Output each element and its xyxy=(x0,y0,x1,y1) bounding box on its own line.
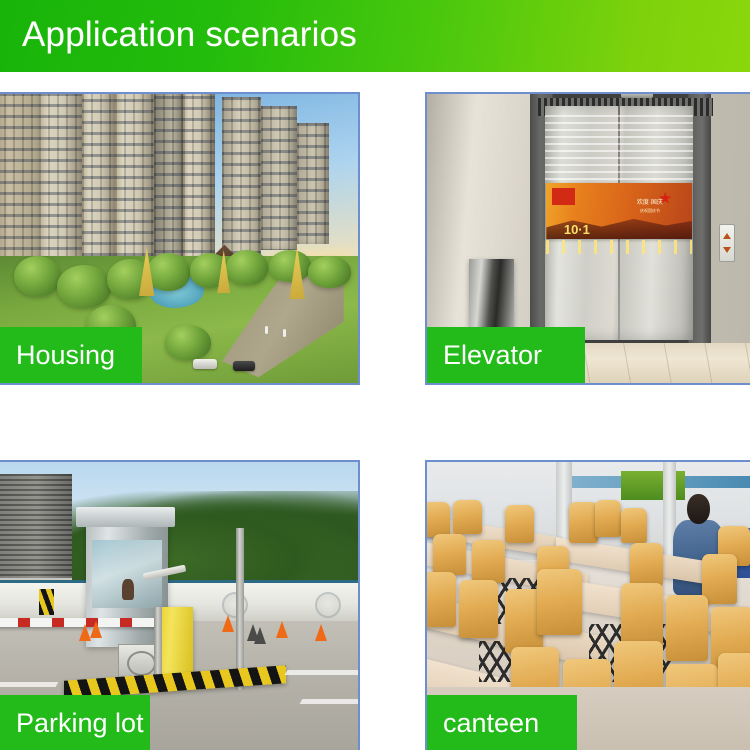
tree xyxy=(165,325,212,360)
scenario-caption-housing: Housing xyxy=(0,327,142,383)
scenario-grid: Housing 欢度·国庆 庆 xyxy=(0,92,750,750)
road-marking xyxy=(0,682,59,687)
person-head xyxy=(687,494,710,524)
dining-chair xyxy=(427,502,450,537)
booth-canopy xyxy=(76,507,175,528)
dining-chair xyxy=(427,572,456,627)
parked-car xyxy=(193,359,217,369)
traffic-cone xyxy=(222,615,234,632)
pedestrian xyxy=(283,329,286,337)
scenario-row-1: Housing 欢度·国庆 庆 xyxy=(0,92,750,387)
apartment-tower xyxy=(297,123,329,244)
scenario-caption-canteen: canteen xyxy=(425,695,577,750)
parked-car xyxy=(233,361,255,371)
traffic-cone xyxy=(315,624,327,641)
door-reflection xyxy=(545,115,694,181)
scenario-card-elevator[interactable]: 欢度·国庆 庆祝国庆节 10·1 Elevator xyxy=(425,92,750,385)
striped-bollard xyxy=(39,589,53,615)
tree xyxy=(14,256,61,296)
dining-chair xyxy=(621,508,647,543)
scenario-card-canteen[interactable]: canteen xyxy=(425,460,750,750)
dining-chair xyxy=(702,554,738,603)
pedestrian xyxy=(265,326,268,334)
page-header-banner: Application scenarios xyxy=(0,0,750,72)
traffic-cone xyxy=(276,621,288,638)
dining-chair xyxy=(453,500,482,535)
dining-chair xyxy=(569,502,598,542)
apartment-tower xyxy=(261,106,297,251)
scenario-caption-elevator: Elevator xyxy=(425,327,585,383)
poster-red-banner xyxy=(546,240,692,254)
arrow-up-icon[interactable] xyxy=(723,233,731,239)
trash-bin xyxy=(469,259,514,337)
dining-chair xyxy=(595,500,621,538)
security-guard xyxy=(122,579,134,600)
road-marking xyxy=(299,699,358,704)
dining-chair xyxy=(433,534,465,574)
page-title: Application scenarios xyxy=(22,15,357,55)
apartment-tower xyxy=(222,97,261,259)
wall-logo xyxy=(315,592,341,618)
dining-chair xyxy=(505,505,534,543)
poster-footnote: 庆祝国庆节 xyxy=(640,208,660,214)
poster-headline: 10·1 xyxy=(564,222,590,237)
scenario-card-parking-lot[interactable]: Parking lot xyxy=(0,460,360,750)
vertical-post xyxy=(154,607,162,682)
dining-chair xyxy=(537,569,582,635)
traffic-cone xyxy=(90,621,102,638)
scenario-caption-parking-lot: Parking lot xyxy=(0,695,150,750)
dining-chair xyxy=(621,583,663,647)
scenario-row-2: Parking lot xyxy=(0,460,750,750)
elevator-doors[interactable]: 欢度·国庆 庆祝国庆节 10·1 xyxy=(545,106,694,340)
vertical-post xyxy=(236,528,244,690)
poster-subtext: 欢度·国庆 xyxy=(637,197,663,206)
green-signboard xyxy=(621,471,686,500)
advertisement-poster: 欢度·国庆 庆祝国庆节 10·1 xyxy=(546,183,692,239)
apartment-tower xyxy=(154,94,183,279)
warehouse-building xyxy=(0,474,72,578)
arrow-down-icon[interactable] xyxy=(723,247,731,253)
dining-chair xyxy=(666,595,708,661)
elevator-call-panel[interactable] xyxy=(719,224,736,262)
apartment-tower xyxy=(183,94,215,267)
tree xyxy=(147,253,190,291)
road-marking xyxy=(285,670,358,675)
application-scenarios-page: Application scenarios xyxy=(0,0,750,750)
flag-graphic xyxy=(552,188,575,205)
tree xyxy=(226,250,269,285)
tree xyxy=(308,256,351,288)
tree xyxy=(57,265,111,308)
tree xyxy=(269,250,312,282)
dining-chair xyxy=(630,543,662,586)
scenario-card-housing[interactable]: Housing xyxy=(0,92,360,385)
dining-chair xyxy=(472,540,504,583)
traffic-cone xyxy=(254,627,266,644)
dining-chair xyxy=(459,580,498,638)
